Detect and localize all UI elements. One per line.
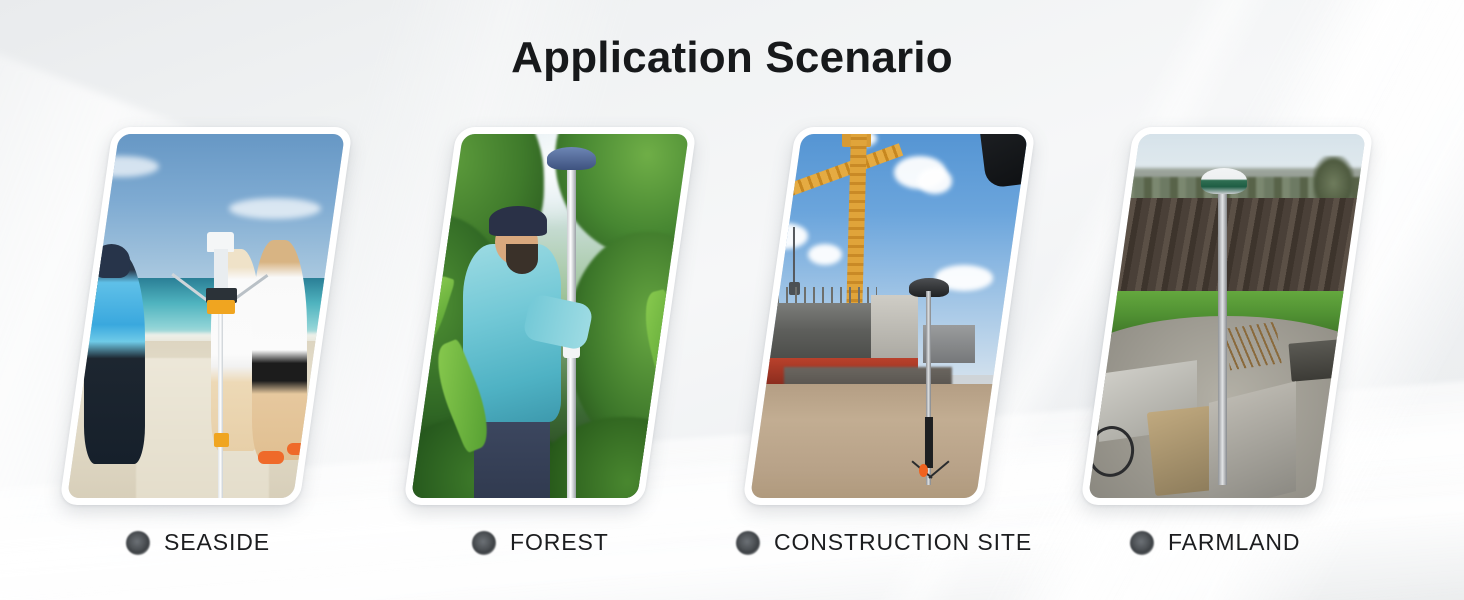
dot-icon xyxy=(1130,531,1154,555)
dot-icon xyxy=(736,531,760,555)
scenario-label-text: FARMLAND xyxy=(1168,529,1300,556)
scenario-label-seaside[interactable]: SEASIDE xyxy=(126,529,270,556)
scenario-label-text: FOREST xyxy=(510,529,609,556)
scenario-label-list: SEASIDE FOREST CONSTRUCTION SITE FARMLAN… xyxy=(0,0,1464,600)
dot-icon xyxy=(472,531,496,555)
application-scenario-banner: Application Scenario xyxy=(0,0,1464,600)
scenario-label-forest[interactable]: FOREST xyxy=(472,529,609,556)
dot-icon xyxy=(126,531,150,555)
scenario-label-farmland[interactable]: FARMLAND xyxy=(1130,529,1300,556)
scenario-label-text: SEASIDE xyxy=(164,529,270,556)
scenario-label-construction-site[interactable]: CONSTRUCTION SITE xyxy=(736,529,1032,556)
scenario-label-text: CONSTRUCTION SITE xyxy=(774,529,1032,556)
